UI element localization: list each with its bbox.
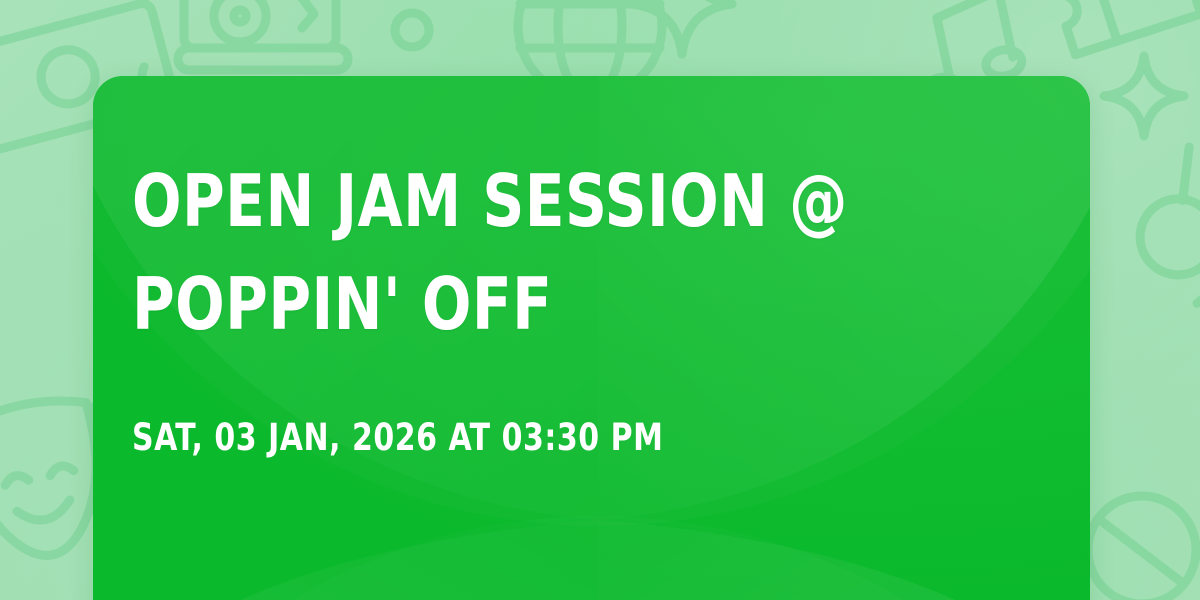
event-title: Open Jam Session @ Poppin' Off [132,150,953,356]
microphone-icon [1109,147,1200,311]
balloon-icon [1088,496,1196,600]
sparkle-icon [1104,56,1184,136]
circle-icon [395,13,429,47]
event-datetime: Sat, 03 Jan, 2026 at 03:30 PM [132,419,953,457]
event-banner-page: Open Jam Session @ Poppin' Off Sat, 03 J… [0,0,1200,600]
event-card[interactable]: Open Jam Session @ Poppin' Off Sat, 03 J… [93,76,1090,600]
ticket-icon [1047,0,1200,55]
sparkle-icon [632,0,732,54]
card-content: Open Jam Session @ Poppin' Off Sat, 03 J… [132,150,1044,457]
turntable-icon [178,0,348,70]
